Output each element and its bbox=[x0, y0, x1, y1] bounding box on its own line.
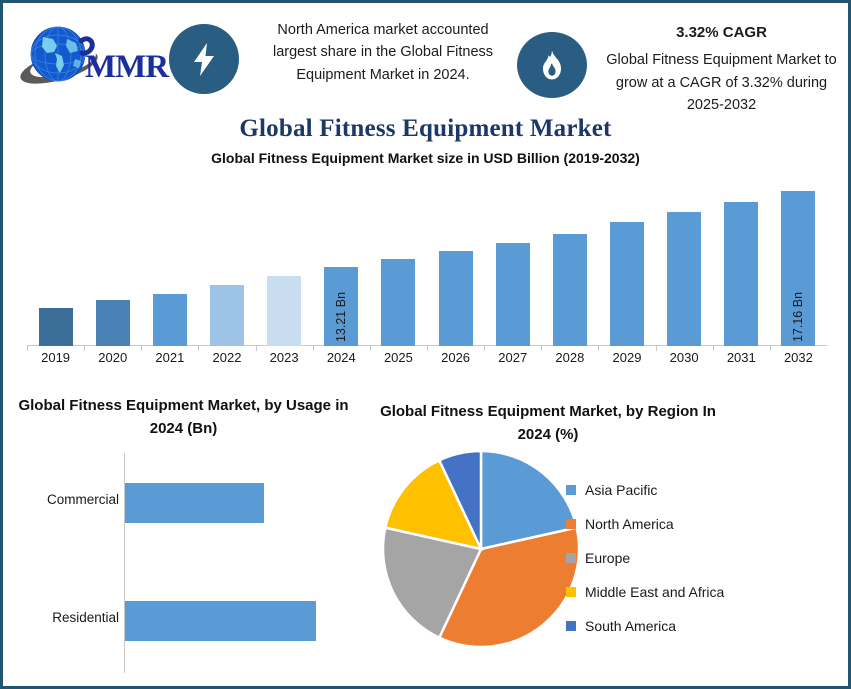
usage-bar-commercial bbox=[125, 483, 264, 523]
mmr-logo: MMR bbox=[19, 23, 169, 93]
bar-column-2023 bbox=[256, 176, 313, 346]
bar-2026 bbox=[439, 251, 473, 346]
bar-column-2024: 13.21 Bn bbox=[313, 176, 370, 346]
bar-column-2022 bbox=[198, 176, 255, 346]
pie-chart-legend: Asia PacificNorth AmericaEuropeMiddle Ea… bbox=[566, 473, 841, 643]
usage-category-label: Residential bbox=[11, 610, 119, 625]
x-axis-label-2025: 2025 bbox=[370, 350, 427, 365]
flame-icon bbox=[517, 32, 587, 98]
mmr-wordmark: MMR bbox=[85, 49, 168, 86]
page-title: Global Fitness Equipment Market bbox=[3, 115, 848, 143]
bar-chart-plot: 13.21 Bn17.16 Bn bbox=[27, 176, 827, 346]
bar-column-2025 bbox=[370, 176, 427, 346]
bar-2025 bbox=[381, 259, 415, 346]
legend-swatch bbox=[566, 553, 576, 563]
legend-label: North America bbox=[585, 516, 674, 532]
bar-2032: 17.16 Bn bbox=[781, 191, 815, 346]
bar-column-2026 bbox=[427, 176, 484, 346]
legend-swatch bbox=[566, 485, 576, 495]
bar-column-2031 bbox=[713, 176, 770, 346]
legend-label: Asia Pacific bbox=[585, 482, 657, 498]
x-axis-label-2024: 2024 bbox=[313, 350, 370, 365]
x-axis-label-2027: 2027 bbox=[484, 350, 541, 365]
legend-item-south-america: South America bbox=[566, 609, 841, 643]
bar-column-2032: 17.16 Bn bbox=[770, 176, 827, 346]
bar-column-2021 bbox=[141, 176, 198, 346]
x-axis-label-2028: 2028 bbox=[541, 350, 598, 365]
bar-chart-x-axis-labels: 2019202020212022202320242025202620272028… bbox=[27, 350, 827, 370]
bar-2024: 13.21 Bn bbox=[324, 267, 358, 346]
x-axis-label-2022: 2022 bbox=[198, 350, 255, 365]
legend-swatch bbox=[566, 587, 576, 597]
bar-2028 bbox=[553, 234, 587, 346]
x-axis-label-2026: 2026 bbox=[427, 350, 484, 365]
usage-row-residential: Residential bbox=[11, 601, 356, 641]
bar-value-label-2024: 13.21 Bn bbox=[334, 292, 348, 342]
bar-column-2030 bbox=[656, 176, 713, 346]
bar-column-2029 bbox=[598, 176, 655, 346]
bar-column-2020 bbox=[84, 176, 141, 346]
bar-column-2028 bbox=[541, 176, 598, 346]
header: MMR North America market accounted large… bbox=[3, 3, 848, 121]
x-axis-label-2032: 2032 bbox=[770, 350, 827, 365]
legend-swatch bbox=[566, 621, 576, 631]
lightning-bolt-icon bbox=[169, 24, 239, 94]
bar-2029 bbox=[610, 222, 644, 346]
x-axis-label-2029: 2029 bbox=[598, 350, 655, 365]
usage-bar-chart: Global Fitness Equipment Market, by Usag… bbox=[11, 395, 356, 680]
legend-label: South America bbox=[585, 618, 676, 634]
bar-2031 bbox=[724, 202, 758, 346]
stat-right-text: 3.32% CAGR Global Fitness Equipment Mark… bbox=[599, 21, 844, 117]
legend-item-asia-pacific: Asia Pacific bbox=[566, 473, 841, 507]
legend-item-europe: Europe bbox=[566, 541, 841, 575]
stat-left-text: North America market accounted largest s… bbox=[258, 19, 508, 86]
bar-2022 bbox=[210, 285, 244, 346]
bar-2021 bbox=[153, 294, 187, 346]
cagr-headline: 3.32% CAGR bbox=[599, 21, 844, 44]
legend-label: Europe bbox=[585, 550, 630, 566]
legend-label: Middle East and Africa bbox=[585, 584, 724, 600]
bar-column-2019 bbox=[27, 176, 84, 346]
legend-item-middle-east-and-africa: Middle East and Africa bbox=[566, 575, 841, 609]
x-axis-label-2020: 2020 bbox=[84, 350, 141, 365]
legend-item-north-america: North America bbox=[566, 507, 841, 541]
pie-chart-title: Global Fitness Equipment Market, by Regi… bbox=[378, 401, 718, 446]
usage-category-label: Commercial bbox=[11, 492, 119, 507]
bar-2019 bbox=[39, 308, 73, 346]
infographic-root: MMR North America market accounted large… bbox=[0, 0, 851, 689]
market-size-bar-chart: Global Fitness Equipment Market size in … bbox=[3, 150, 848, 375]
legend-swatch bbox=[566, 519, 576, 529]
bar-2020 bbox=[96, 300, 130, 346]
bar-2023 bbox=[267, 276, 301, 346]
x-axis-label-2031: 2031 bbox=[713, 350, 770, 365]
bar-column-2027 bbox=[484, 176, 541, 346]
x-axis-label-2021: 2021 bbox=[141, 350, 198, 365]
usage-row-commercial: Commercial bbox=[11, 483, 356, 523]
pie-chart-graphic bbox=[381, 449, 581, 649]
bar-2030 bbox=[667, 212, 701, 346]
bar-2027 bbox=[496, 243, 530, 346]
x-axis-label-2019: 2019 bbox=[27, 350, 84, 365]
x-axis-label-2023: 2023 bbox=[256, 350, 313, 365]
cagr-detail: Global Fitness Equipment Market to grow … bbox=[606, 52, 837, 113]
usage-bar-residential bbox=[125, 601, 316, 641]
usage-chart-title: Global Fitness Equipment Market, by Usag… bbox=[11, 395, 356, 440]
region-pie-chart: Global Fitness Equipment Market, by Regi… bbox=[363, 401, 848, 681]
bar-value-label-2032: 17.16 Bn bbox=[791, 292, 805, 342]
bar-chart-title: Global Fitness Equipment Market size in … bbox=[3, 150, 848, 166]
usage-chart-plot: CommercialResidential bbox=[11, 453, 356, 673]
x-axis-label-2030: 2030 bbox=[656, 350, 713, 365]
